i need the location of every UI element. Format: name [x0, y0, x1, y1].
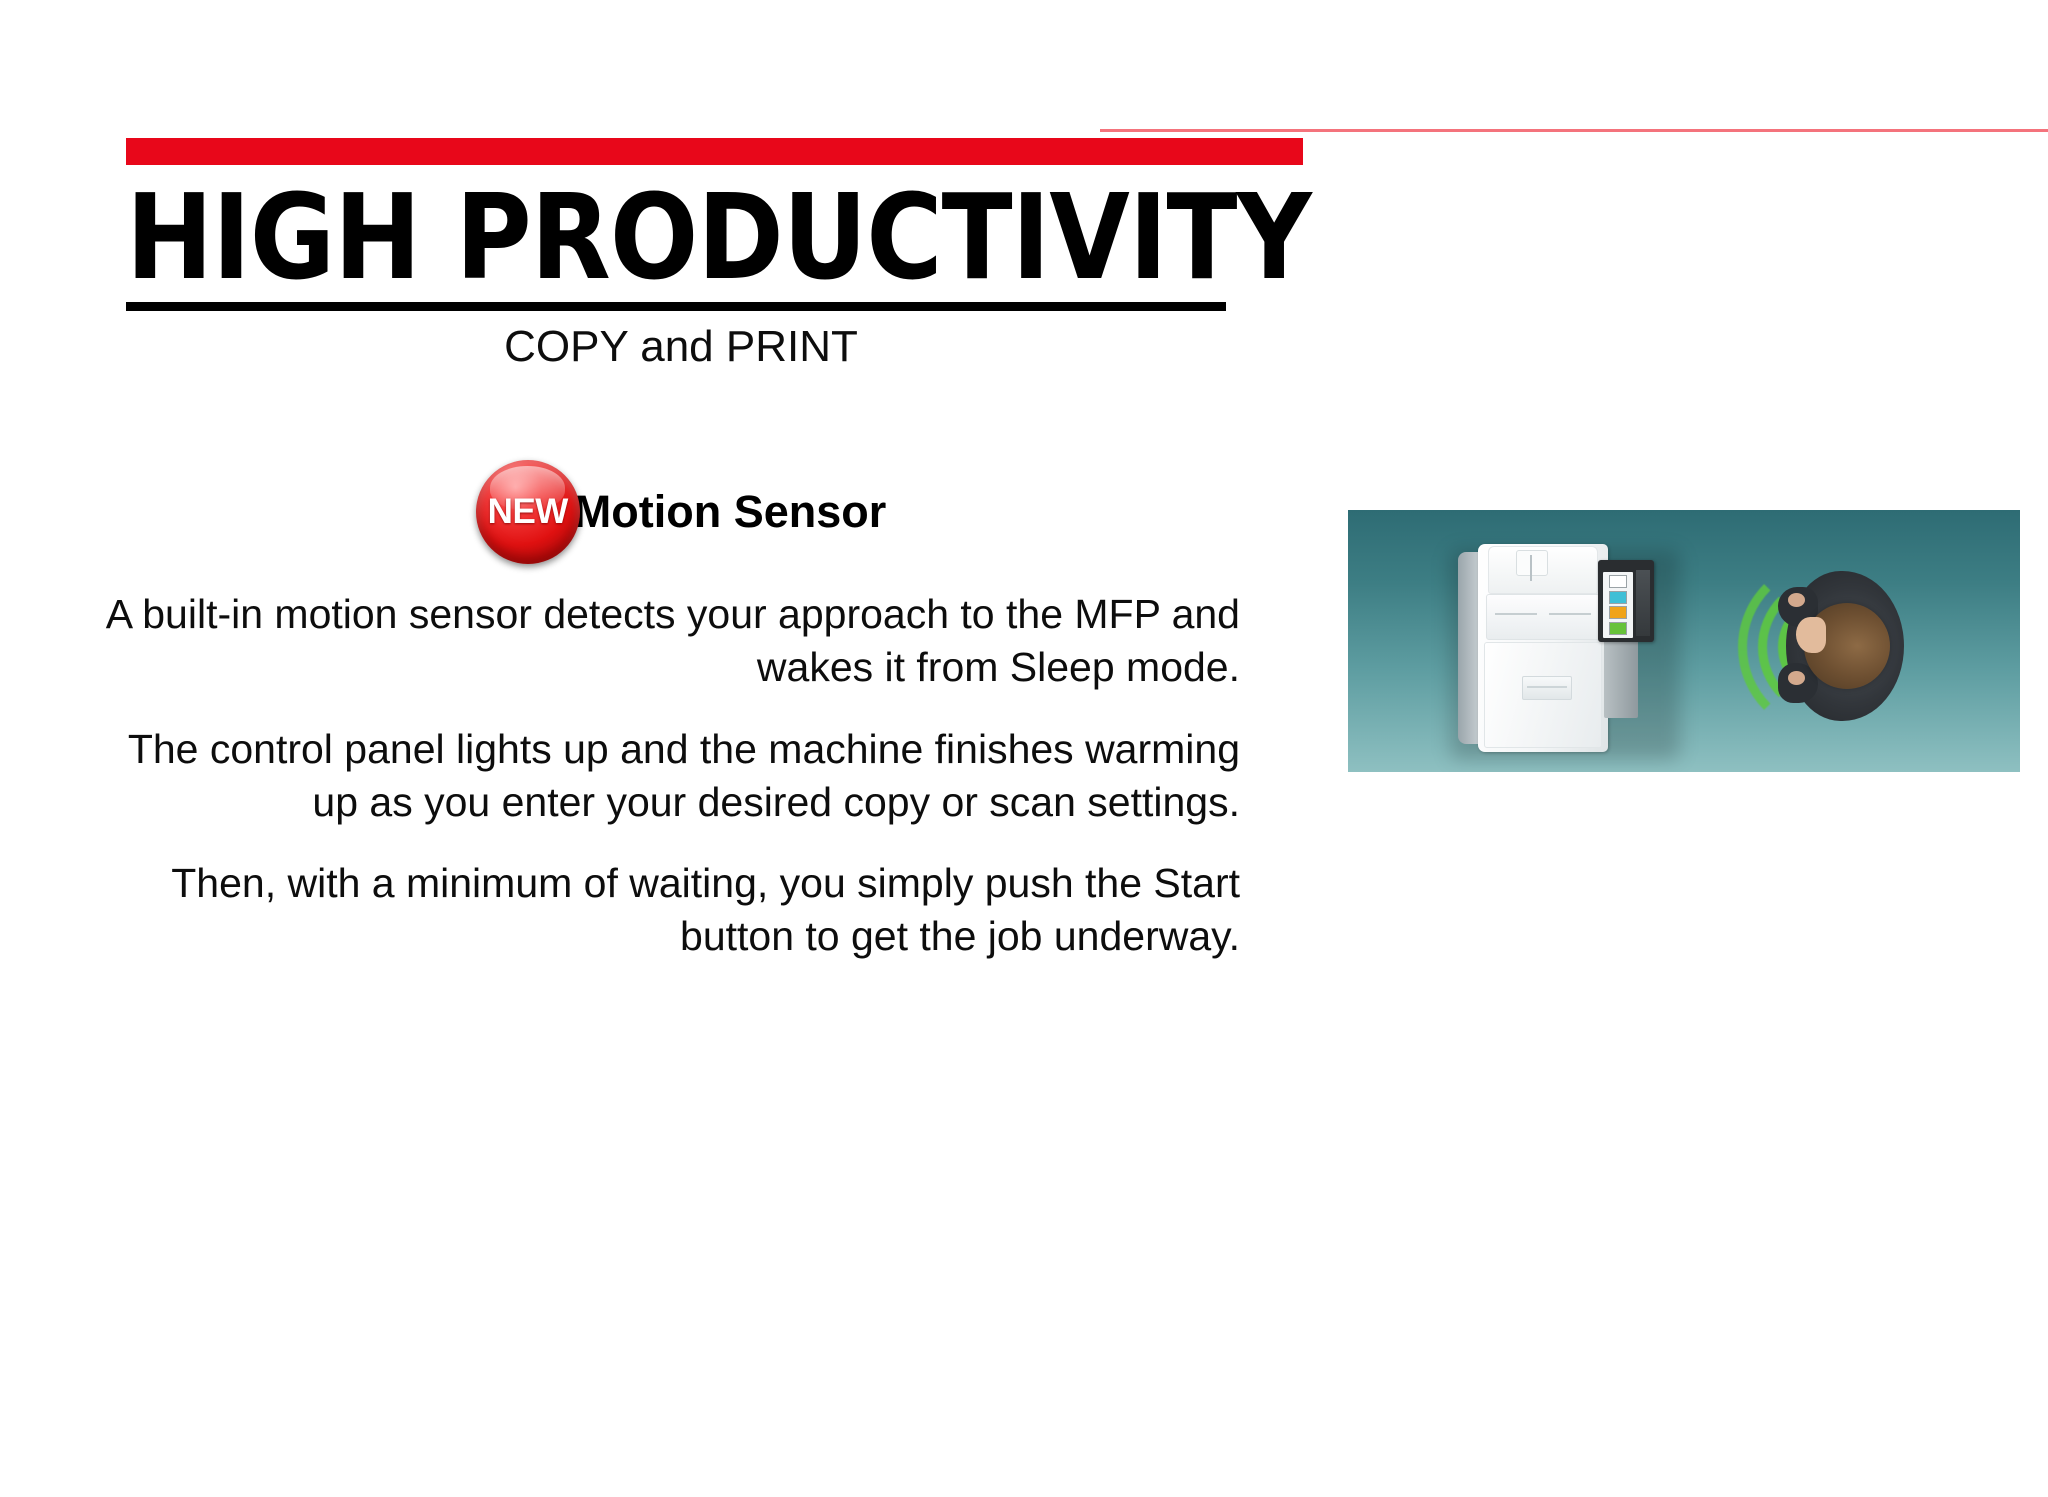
mfp-control-panel [1598, 560, 1654, 642]
slide-canvas: HIGH PRODUCTIVITY COPY and PRINT NEW Mot… [0, 0, 2048, 1497]
new-badge-icon: NEW [476, 460, 580, 564]
paragraph-2: The control panel lights up and the mach… [100, 723, 1240, 830]
panel-key-cyan [1609, 591, 1627, 604]
new-badge-label: NEW [488, 492, 568, 532]
panel-side-strip [1636, 570, 1650, 636]
mfp-printer-illustration [1458, 538, 1678, 756]
paragraph-3: Then, with a minimum of waiting, you sim… [100, 857, 1240, 964]
header-accent-bar [126, 138, 1303, 165]
mfp-paper-slot [1522, 676, 1572, 700]
title-block: HIGH PRODUCTIVITY [126, 178, 1236, 311]
feature-heading: Motion Sensor [574, 486, 887, 538]
panel-key-green [1609, 622, 1627, 635]
mfp-lid-latch [1516, 550, 1548, 576]
feature-heading-row: NEW Motion Sensor [126, 460, 1236, 564]
panel-key-white [1609, 575, 1627, 588]
header-thin-rule [1100, 129, 2048, 132]
paragraph-1: A built-in motion sensor detects your ap… [100, 588, 1240, 695]
mfp-control-panel-screen [1603, 572, 1633, 638]
mfp-output-tray [1486, 594, 1600, 640]
feature-description: A built-in motion sensor detects your ap… [100, 588, 1240, 964]
motion-sensor-photo [1348, 510, 2020, 772]
page-title: HIGH PRODUCTIVITY [126, 178, 1214, 296]
page-subtitle: COPY and PRINT [126, 322, 1236, 372]
person-face [1796, 617, 1826, 653]
person-right-hand [1788, 671, 1805, 685]
panel-key-orange [1609, 606, 1627, 619]
photo-contents [1348, 510, 2020, 772]
person-left-hand [1788, 593, 1805, 607]
person-illustration [1778, 565, 1928, 725]
